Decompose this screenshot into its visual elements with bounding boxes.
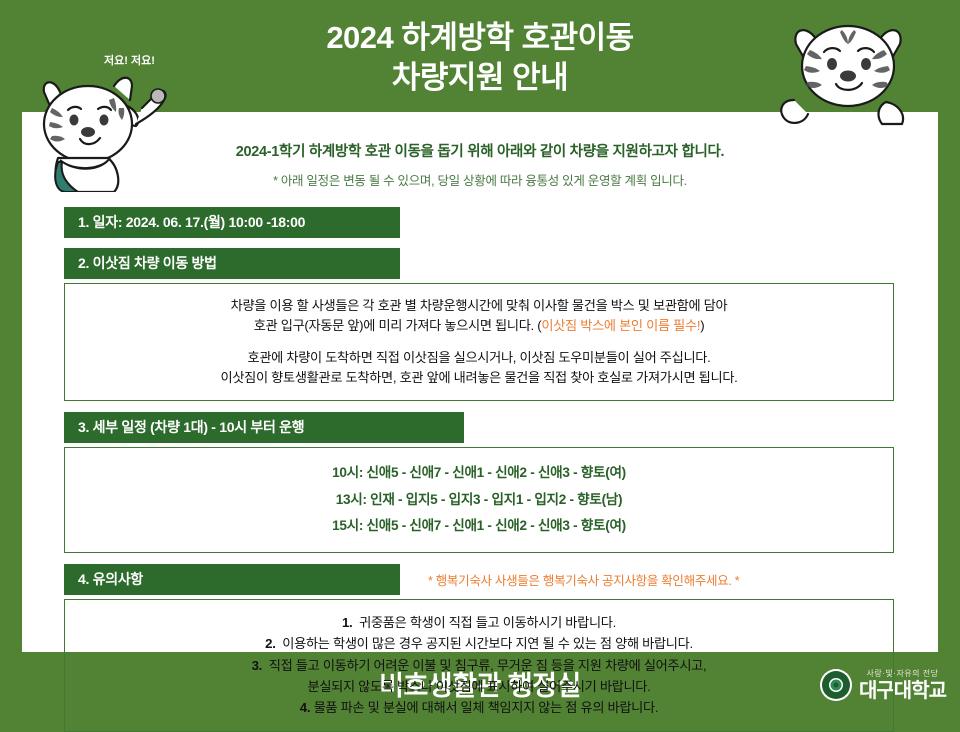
section-2: 2. 이삿짐 차량 이동 방법	[64, 248, 938, 279]
section-4-header: 4. 유의사항	[64, 564, 400, 595]
notice-item-1-number: 1.	[342, 615, 352, 630]
notice-item-4-text: 물품 파손 및 분실에 대해서 일체 책임지지 않는 점 유의 바랍니다.	[314, 700, 659, 715]
tiger-mascot-peeking-icon	[770, 8, 950, 128]
section-3-header: 3. 세부 일정 (차량 1대) - 10시 부터 운행	[64, 412, 464, 443]
move-method-line-1: 차량을 이용 할 사생들은 각 호관 별 차량운행시간에 맞춰 이사할 물건을 …	[75, 296, 883, 316]
section-4: 4. 유의사항 * 행복기숙사 사생들은 행복기숙사 공지사항을 확인해주세요.…	[64, 564, 938, 595]
happy-dorm-note: * 행복기숙사 사생들은 행복기숙사 공지사항을 확인해주세요. *	[428, 570, 739, 589]
notice-item-3-highlight: 분실되지 않도록 박스나 이삿짐에 표시하여 실어주시기 바랍니다.	[75, 676, 883, 697]
tiger-mascot-waving-icon	[18, 52, 198, 192]
route-15: 15시: 신애5 - 신애7 - 신애1 - 신애2 - 신애3 - 향토(여)	[75, 513, 883, 540]
notice-item-2-number: 2.	[265, 636, 275, 651]
section-3: 3. 세부 일정 (차량 1대) - 10시 부터 운행	[64, 412, 938, 443]
notice-item-4-number: 4.	[300, 700, 310, 715]
move-method-line-2-after: )	[700, 318, 704, 333]
section-2-header: 2. 이삿짐 차량 이동 방법	[64, 248, 400, 279]
box-name-required-highlight: 이삿짐 박스에 본인 이름 필수!	[541, 318, 700, 333]
move-method-line-2-before: 호관 입구(자동문 앞)에 미리 가져다 놓으시면 됩니다. (	[254, 318, 542, 333]
notice-item-3-number: 3.	[252, 658, 262, 673]
notice-item-1: 1. 귀중품은 학생이 직접 들고 이동하시기 바랍니다.	[75, 612, 883, 633]
section-1-header: 1. 일자: 2024. 06. 17.(월) 10:00 -18:00	[64, 207, 400, 238]
notice-item-3: 3. 직접 들고 이동하기 어려운 이불 및 침구류, 무거운 짐 등을 지원 …	[75, 655, 883, 676]
arrival-line-2: 이삿짐이 향토생활관로 도착하면, 호관 앞에 내려놓은 물건을 직접 찾아 호…	[75, 368, 883, 388]
section-2-body: 차량을 이용 할 사생들은 각 호관 별 차량운행시간에 맞춰 이사할 물건을 …	[64, 283, 894, 401]
move-method-line-2: 호관 입구(자동문 앞)에 미리 가져다 놓으시면 됩니다. (이삿짐 박스에 …	[75, 316, 883, 336]
route-10: 10시: 신애5 - 신애7 - 신애1 - 신애2 - 신애3 - 향토(여)	[75, 460, 883, 487]
route-13: 13시: 인재 - 입지5 - 입지3 - 입지1 - 입지2 - 향토(남)	[75, 487, 883, 514]
section-1: 1. 일자: 2024. 06. 17.(월) 10:00 -18:00	[64, 207, 938, 238]
notice-item-3-text: 직접 들고 이동하기 어려운 이불 및 침구류, 무거운 짐 등을 지원 차량에…	[269, 658, 707, 673]
mascot-speech-bubble: 저요! 저요!	[104, 52, 155, 68]
section-4-body: 1. 귀중품은 학생이 직접 들고 이동하시기 바랍니다. 2. 이용하는 학생…	[64, 599, 894, 732]
notice-card: 2024-1학기 하계방학 호관 이동을 돕기 위해 아래와 같이 차량을 지원…	[22, 112, 938, 652]
notice-item-2-text: 이용하는 학생이 많은 경우 공지된 시간보다 지연 될 수 있는 점 양해 바…	[282, 636, 693, 651]
notice-item-2: 2. 이용하는 학생이 많은 경우 공지된 시간보다 지연 될 수 있는 점 양…	[75, 633, 883, 654]
notice-item-4: 4. 물품 파손 및 분실에 대해서 일체 책임지지 않는 점 유의 바랍니다.	[75, 697, 883, 718]
section-3-body: 10시: 신애5 - 신애7 - 신애1 - 신애2 - 신애3 - 향토(여)…	[64, 447, 894, 553]
notice-item-1-text: 귀중품은 학생이 직접 들고 이동하시기 바랍니다.	[359, 615, 616, 630]
arrival-line-1: 호관에 차량이 도착하면 직접 이삿짐을 실으시거나, 이삿짐 도우미분들이 실…	[75, 348, 883, 368]
